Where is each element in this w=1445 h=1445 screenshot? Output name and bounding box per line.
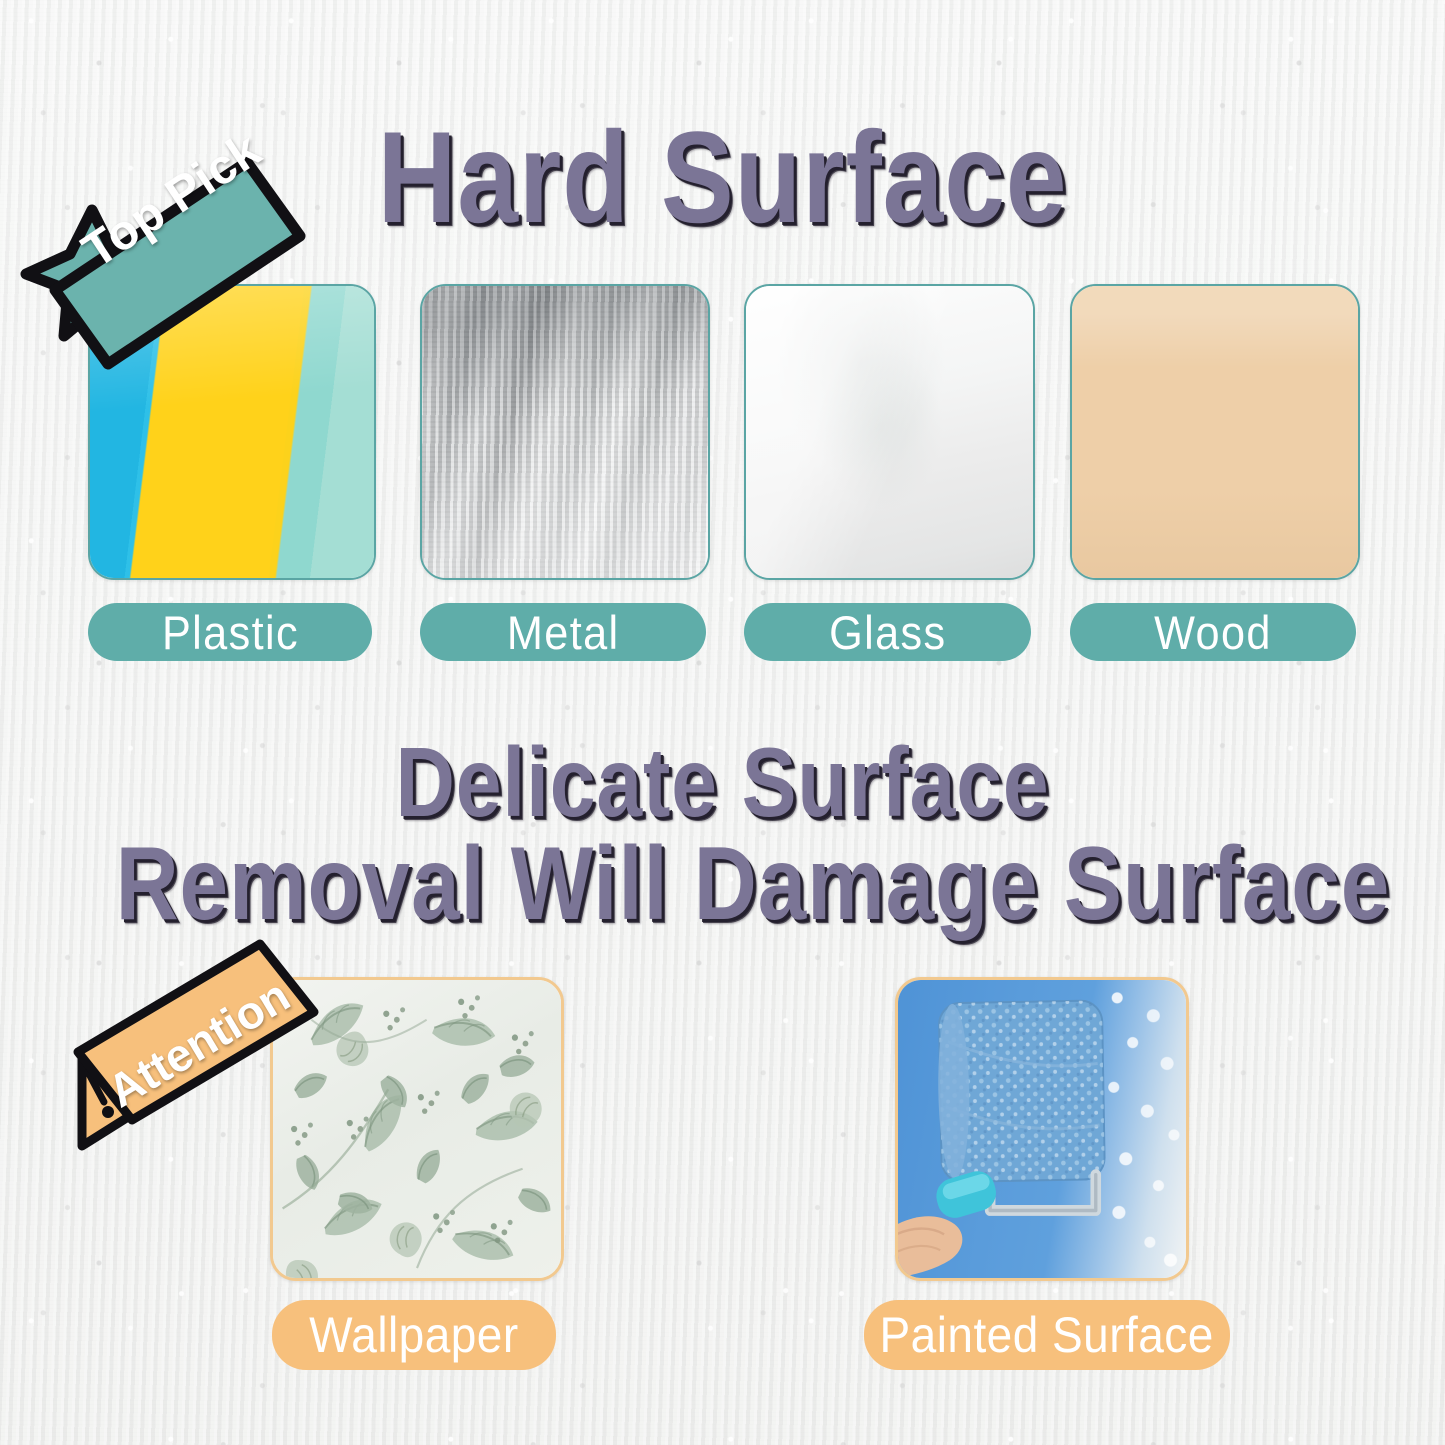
glass-swatch xyxy=(744,284,1035,580)
attention-badge: Attention xyxy=(60,950,380,1170)
painted-surface-swatch xyxy=(895,977,1189,1281)
label-metal[interactable]: Metal xyxy=(420,603,706,661)
glass-texture xyxy=(746,286,1033,578)
label-metal-text: Metal xyxy=(507,605,620,660)
label-plastic-text: Plastic xyxy=(161,605,298,660)
wood-swatch xyxy=(1070,284,1360,580)
label-wood[interactable]: Wood xyxy=(1070,603,1356,661)
metal-texture xyxy=(422,286,708,578)
label-wood-text: Wood xyxy=(1154,605,1272,660)
label-plastic[interactable]: Plastic xyxy=(88,603,372,661)
label-painted-surface-text: Painted Surface xyxy=(880,1306,1214,1364)
hand-icon xyxy=(898,1216,962,1278)
label-wallpaper-text: Wallpaper xyxy=(309,1306,519,1364)
delicate-surface-title-line2: Removal Will Damage Surface xyxy=(116,832,1330,936)
wood-texture xyxy=(1072,286,1358,578)
label-glass[interactable]: Glass xyxy=(744,603,1031,661)
infographic-page: Hard Surface Plastic Metal Glass Wood xyxy=(0,0,1445,1445)
label-glass-text: Glass xyxy=(829,605,946,660)
label-wallpaper[interactable]: Wallpaper xyxy=(272,1300,556,1370)
delicate-surface-title-line1: Delicate Surface xyxy=(116,733,1330,831)
painted-surface-texture xyxy=(898,980,1186,1278)
metal-swatch xyxy=(420,284,710,580)
label-painted-surface[interactable]: Painted Surface xyxy=(864,1300,1230,1370)
paint-roller-icon xyxy=(932,1000,1105,1222)
top-pick-badge: Top Pick xyxy=(0,140,330,370)
